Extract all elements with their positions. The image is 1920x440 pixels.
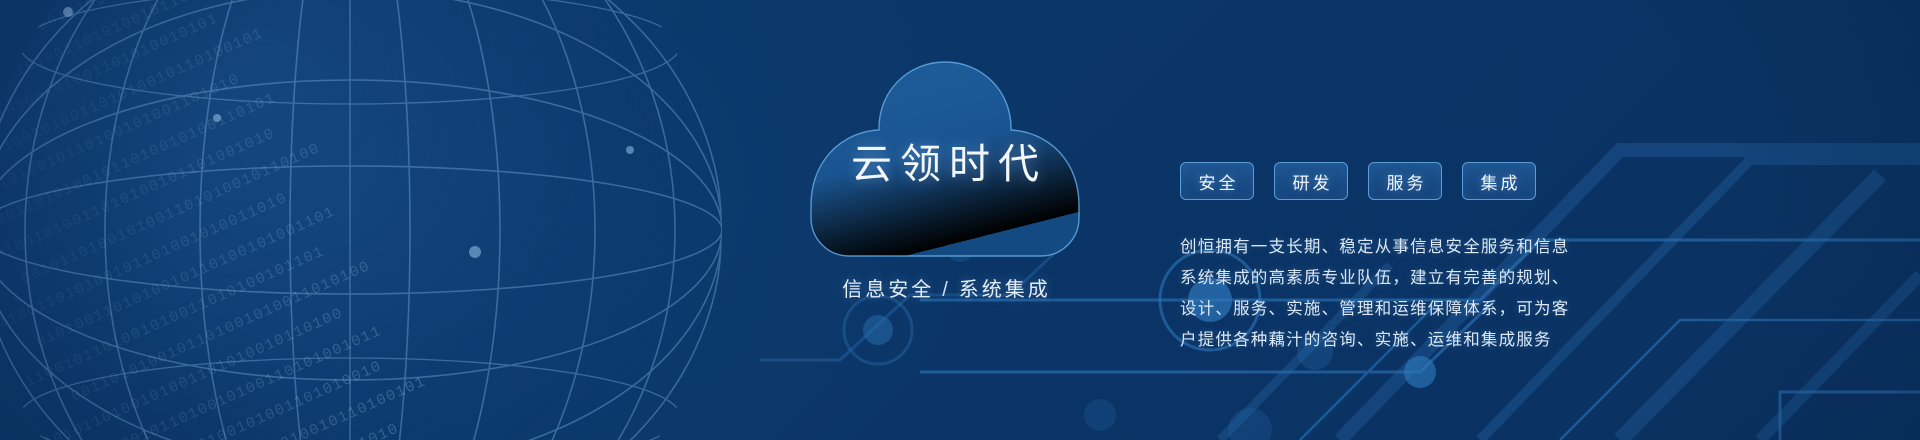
description-line: 创恒拥有一支长期、稳定从事信息安全服务和信息: [1180, 232, 1580, 263]
tag-rnd[interactable]: 研发: [1274, 162, 1348, 200]
description-line: 户提供各种藕汁的咨询、实施、运维和集成服务: [1180, 325, 1580, 356]
brand-tagline: 信息安全/系统集成: [795, 273, 1095, 302]
hero-banner: 0101001101010010010101101001010 10010100…: [0, 0, 1920, 440]
tagline-separator: /: [942, 279, 951, 301]
company-description: 创恒拥有一支长期、稳定从事信息安全服务和信息 系统集成的高素质专业队伍，建立有完…: [1180, 232, 1580, 356]
tagline-right: 系统集成: [959, 279, 1051, 301]
description-line: 系统集成的高素质专业队伍，建立有完善的规划、: [1180, 263, 1580, 294]
tag-row: 安全 研发 服务 集成: [1180, 162, 1580, 200]
cloud-logo: 云领时代: [795, 58, 1095, 258]
info-column: 安全 研发 服务 集成 创恒拥有一支长期、稳定从事信息安全服务和信息 系统集成的…: [1180, 162, 1580, 356]
tag-security[interactable]: 安全: [1180, 162, 1254, 200]
brand-name: 云领时代: [795, 130, 1095, 190]
tag-integration[interactable]: 集成: [1462, 162, 1536, 200]
tagline-left: 信息安全: [842, 279, 934, 301]
description-line: 设计、服务、实施、管理和运维保障体系，可为客: [1180, 294, 1580, 325]
tag-service[interactable]: 服务: [1368, 162, 1442, 200]
